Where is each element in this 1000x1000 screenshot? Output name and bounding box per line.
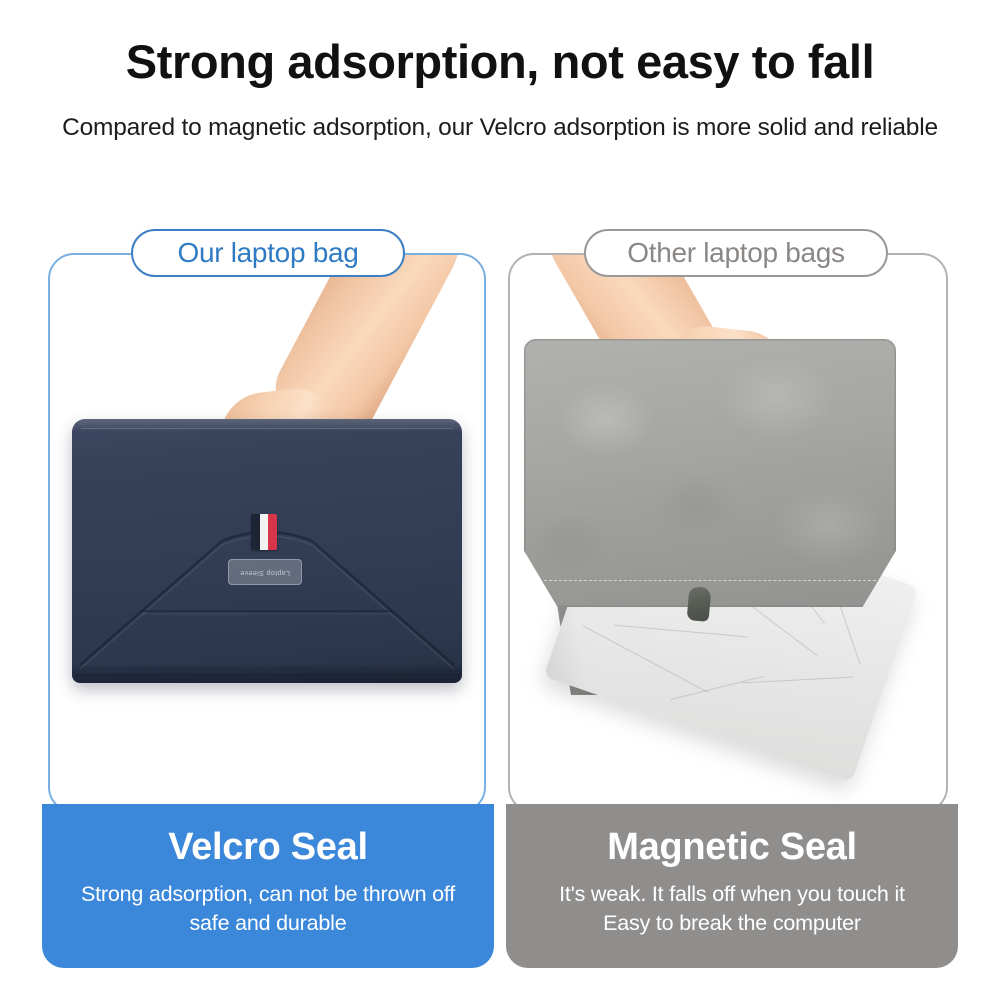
- laptop-scratch: [614, 625, 748, 638]
- sleeve-top-seam: [81, 428, 453, 429]
- tricolor-tab: [251, 514, 277, 550]
- caption-velcro-title: Velcro Seal: [168, 824, 368, 872]
- caption-magnetic-line1: It's weak. It falls off when you touch i…: [559, 880, 905, 909]
- product-scene-our-bag: Laptop Sleeve: [50, 255, 484, 811]
- caption-magnetic-line2: Easy to break the computer: [603, 909, 861, 938]
- tricolor-stripe-white: [260, 514, 269, 550]
- laptop-scratch: [583, 625, 709, 693]
- product-scene-other-bag: [510, 255, 946, 811]
- magnet-nub: [687, 586, 712, 622]
- badge-our-laptop-bag-label: Our laptop bag: [177, 237, 358, 269]
- tricolor-stripe-red: [268, 514, 277, 550]
- brand-label: Laptop Sleeve: [228, 559, 302, 585]
- badge-other-laptop-bags: Other laptop bags: [584, 229, 888, 277]
- gray-suede-flap: [524, 339, 896, 607]
- caption-magnetic-seal: Magnetic Seal It's weak. It falls off wh…: [506, 804, 958, 968]
- tricolor-stripe-navy: [251, 514, 260, 550]
- caption-velcro-seal: Velcro Seal Strong adsorption, can not b…: [42, 804, 494, 968]
- page-subheadline: Compared to magnetic adsorption, our Vel…: [0, 114, 1000, 142]
- gray-flap-stitching: [544, 580, 876, 581]
- brand-label-text: Laptop Sleeve: [240, 569, 290, 576]
- page-headline: Strong adsorption, not easy to fall: [0, 36, 1000, 89]
- caption-velcro-line1: Strong adsorption, can not be thrown off: [81, 880, 455, 909]
- caption-velcro-line2: safe and durable: [190, 909, 347, 938]
- gray-flap-edge: [524, 339, 896, 607]
- navy-laptop-sleeve: Laptop Sleeve: [72, 419, 462, 683]
- badge-our-laptop-bag: Our laptop bag: [131, 229, 405, 277]
- caption-magnetic-title: Magnetic Seal: [607, 824, 857, 872]
- badge-other-laptop-bags-label: Other laptop bags: [627, 237, 845, 269]
